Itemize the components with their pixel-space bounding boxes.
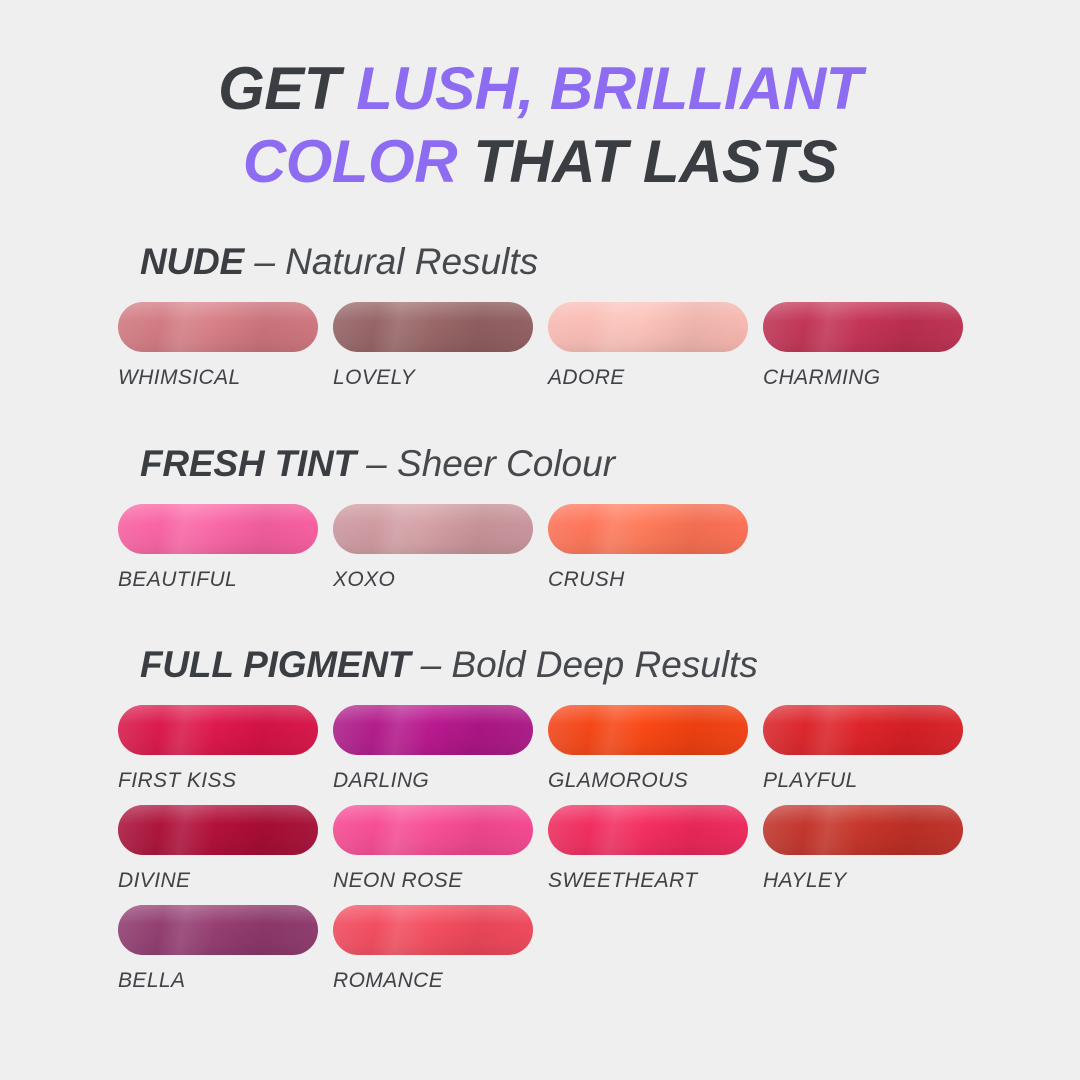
swatch-cell[interactable]: XOXO: [333, 504, 533, 592]
color-swatch[interactable]: [548, 705, 748, 755]
color-swatch[interactable]: [333, 504, 533, 554]
headline-segment-lush-brilliant: LUSH, BRILLIANT: [356, 55, 862, 122]
swatch-label: NEON ROSE: [333, 869, 533, 893]
swatch-cell[interactable]: FIRST KISS: [118, 705, 318, 793]
page-title: GET LUSH, BRILLIANT COLOR THAT LASTS: [0, 52, 1080, 198]
swatch-poster: GET LUSH, BRILLIANT COLOR THAT LASTS NUD…: [0, 0, 1080, 1080]
swatch-cell[interactable]: CHARMING: [763, 302, 963, 390]
color-swatch[interactable]: [763, 805, 963, 855]
swatch-label: GLAMOROUS: [548, 769, 748, 793]
color-swatch[interactable]: [763, 705, 963, 755]
color-swatch[interactable]: [118, 504, 318, 554]
swatch-label: LOVELY: [333, 366, 533, 390]
color-swatch[interactable]: [333, 302, 533, 352]
section-title-name: FRESH TINT: [140, 443, 356, 484]
section-title: FRESH TINT – Sheer Colour: [140, 445, 1080, 482]
headline-segment-color: COLOR: [243, 128, 473, 195]
color-swatch[interactable]: [118, 805, 318, 855]
swatch-cell[interactable]: WHIMSICAL: [118, 302, 318, 390]
swatch-cell[interactable]: LOVELY: [333, 302, 533, 390]
swatch-row: WHIMSICALLOVELYADORECHARMING: [0, 302, 1080, 402]
section-nude: NUDE – Natural ResultsWHIMSICALLOVELYADO…: [0, 243, 1080, 402]
swatch-cell[interactable]: NEON ROSE: [333, 805, 533, 893]
section-title-name: FULL PIGMENT: [140, 644, 410, 685]
swatch-label: XOXO: [333, 568, 533, 592]
headline-line-1: GET LUSH, BRILLIANT: [218, 55, 862, 122]
swatch-row: FIRST KISSDARLINGGLAMOROUSPLAYFUL: [0, 705, 1080, 805]
swatch-rows: BEAUTIFULXOXOCRUSH: [0, 504, 1080, 604]
section-fresh-tint: FRESH TINT – Sheer ColourBEAUTIFULXOXOCR…: [0, 445, 1080, 604]
color-swatch[interactable]: [333, 805, 533, 855]
section-title-name: NUDE: [140, 241, 244, 282]
swatch-rows: WHIMSICALLOVELYADORECHARMING: [0, 302, 1080, 402]
color-swatch[interactable]: [118, 705, 318, 755]
color-swatch[interactable]: [333, 705, 533, 755]
color-swatch[interactable]: [333, 905, 533, 955]
swatch-rows: FIRST KISSDARLINGGLAMOROUSPLAYFULDIVINEN…: [0, 705, 1080, 1005]
swatch-label: CRUSH: [548, 568, 748, 592]
section-title-subtitle: – Natural Results: [244, 241, 538, 282]
color-swatch[interactable]: [763, 302, 963, 352]
swatch-label: SWEETHEART: [548, 869, 748, 893]
swatch-cell[interactable]: ADORE: [548, 302, 748, 390]
swatch-label: FIRST KISS: [118, 769, 318, 793]
swatch-label: HAYLEY: [763, 869, 963, 893]
swatch-row: BEAUTIFULXOXOCRUSH: [0, 504, 1080, 604]
swatch-label: WHIMSICAL: [118, 366, 318, 390]
color-swatch[interactable]: [548, 302, 748, 352]
swatch-row: DIVINENEON ROSESWEETHEARTHAYLEY: [0, 805, 1080, 905]
swatch-label: CHARMING: [763, 366, 963, 390]
swatch-cell[interactable]: GLAMOROUS: [548, 705, 748, 793]
section-full-pigment: FULL PIGMENT – Bold Deep ResultsFIRST KI…: [0, 646, 1080, 1005]
section-title: NUDE – Natural Results: [140, 243, 1080, 280]
swatch-cell[interactable]: ROMANCE: [333, 905, 533, 993]
swatch-cell[interactable]: HAYLEY: [763, 805, 963, 893]
swatch-cell[interactable]: DIVINE: [118, 805, 318, 893]
swatch-cell[interactable]: PLAYFUL: [763, 705, 963, 793]
headline-segment-that-lasts: THAT LASTS: [473, 128, 837, 195]
color-swatch[interactable]: [548, 805, 748, 855]
swatch-label: ADORE: [548, 366, 748, 390]
color-swatch[interactable]: [118, 905, 318, 955]
headline-segment-get: GET: [218, 55, 356, 122]
swatch-cell[interactable]: BEAUTIFUL: [118, 504, 318, 592]
section-title: FULL PIGMENT – Bold Deep Results: [140, 646, 1080, 683]
color-swatch[interactable]: [118, 302, 318, 352]
swatch-row: BELLAROMANCE: [0, 905, 1080, 1005]
swatch-label: BELLA: [118, 969, 318, 993]
swatch-cell[interactable]: DARLING: [333, 705, 533, 793]
swatch-label: PLAYFUL: [763, 769, 963, 793]
swatch-label: BEAUTIFUL: [118, 568, 318, 592]
swatch-label: ROMANCE: [333, 969, 533, 993]
color-swatch[interactable]: [548, 504, 748, 554]
swatch-cell[interactable]: BELLA: [118, 905, 318, 993]
section-title-subtitle: – Sheer Colour: [356, 443, 615, 484]
swatch-label: DIVINE: [118, 869, 318, 893]
headline-line-2: COLOR THAT LASTS: [243, 128, 837, 195]
swatch-cell[interactable]: CRUSH: [548, 504, 748, 592]
swatch-cell[interactable]: SWEETHEART: [548, 805, 748, 893]
section-title-subtitle: – Bold Deep Results: [410, 644, 758, 685]
swatch-label: DARLING: [333, 769, 533, 793]
